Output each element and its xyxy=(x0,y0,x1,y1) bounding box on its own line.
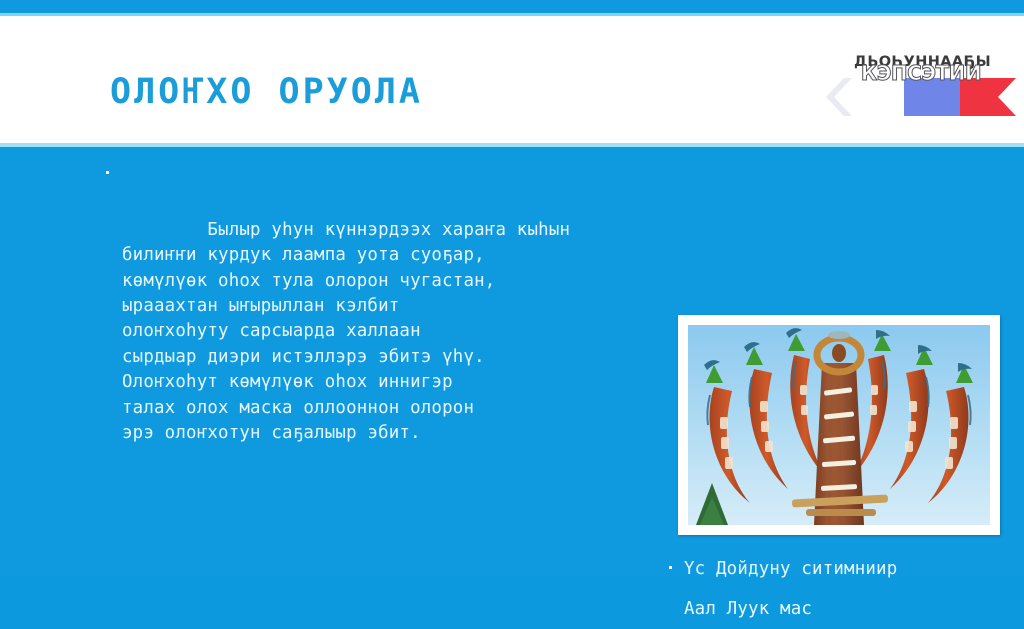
caption-line-1: Үс Дойдуну ситимниир xyxy=(668,549,1016,589)
body-paragraph-text: Былыр уһун күннэрдээх хараҥа кыһын билиҥ… xyxy=(122,220,570,443)
top-accent-bar xyxy=(0,0,1024,13)
body-bullet-paragraph: Былыр уһун күннэрдээх хараҥа кыһын билиҥ… xyxy=(104,167,649,472)
slide-body: Былыр уһун күннэрдээх хараҥа кыһын билиҥ… xyxy=(0,147,1024,576)
photo-frame xyxy=(678,315,1000,535)
slide-header: ОЛОҤХО ОРУОЛА ДЬОҺУННААҔЫ КЭПСЭТИИ xyxy=(0,16,1024,146)
logo-ribbon-text: КЭПСЭТИИ xyxy=(826,61,1016,85)
bullet-dot-icon xyxy=(669,566,672,569)
caption-line-2: Аал Луук мас xyxy=(668,589,1016,629)
bullet-dot-icon xyxy=(106,171,109,174)
page-title: ОЛОҤХО ОРУОЛА xyxy=(110,72,423,112)
body-text-block: Былыр уһун күннэрдээх хараҥа кыһын билиҥ… xyxy=(104,167,649,472)
photo-caption: Үс Дойдуну ситимниир Аал Луук мас xyxy=(668,549,1016,629)
brand-logo: ДЬОҺУННААҔЫ КЭПСЭТИИ xyxy=(826,54,1016,120)
photo-aal-luuk-mas xyxy=(688,325,990,525)
slide: ОЛОҤХО ОРУОЛА ДЬОҺУННААҔЫ КЭПСЭТИИ Былыр… xyxy=(0,0,1024,576)
caption-line-2-text: Аал Луук мас xyxy=(684,599,812,619)
caption-line-1-text: Үс Дойдуну ситимниир xyxy=(684,559,897,579)
